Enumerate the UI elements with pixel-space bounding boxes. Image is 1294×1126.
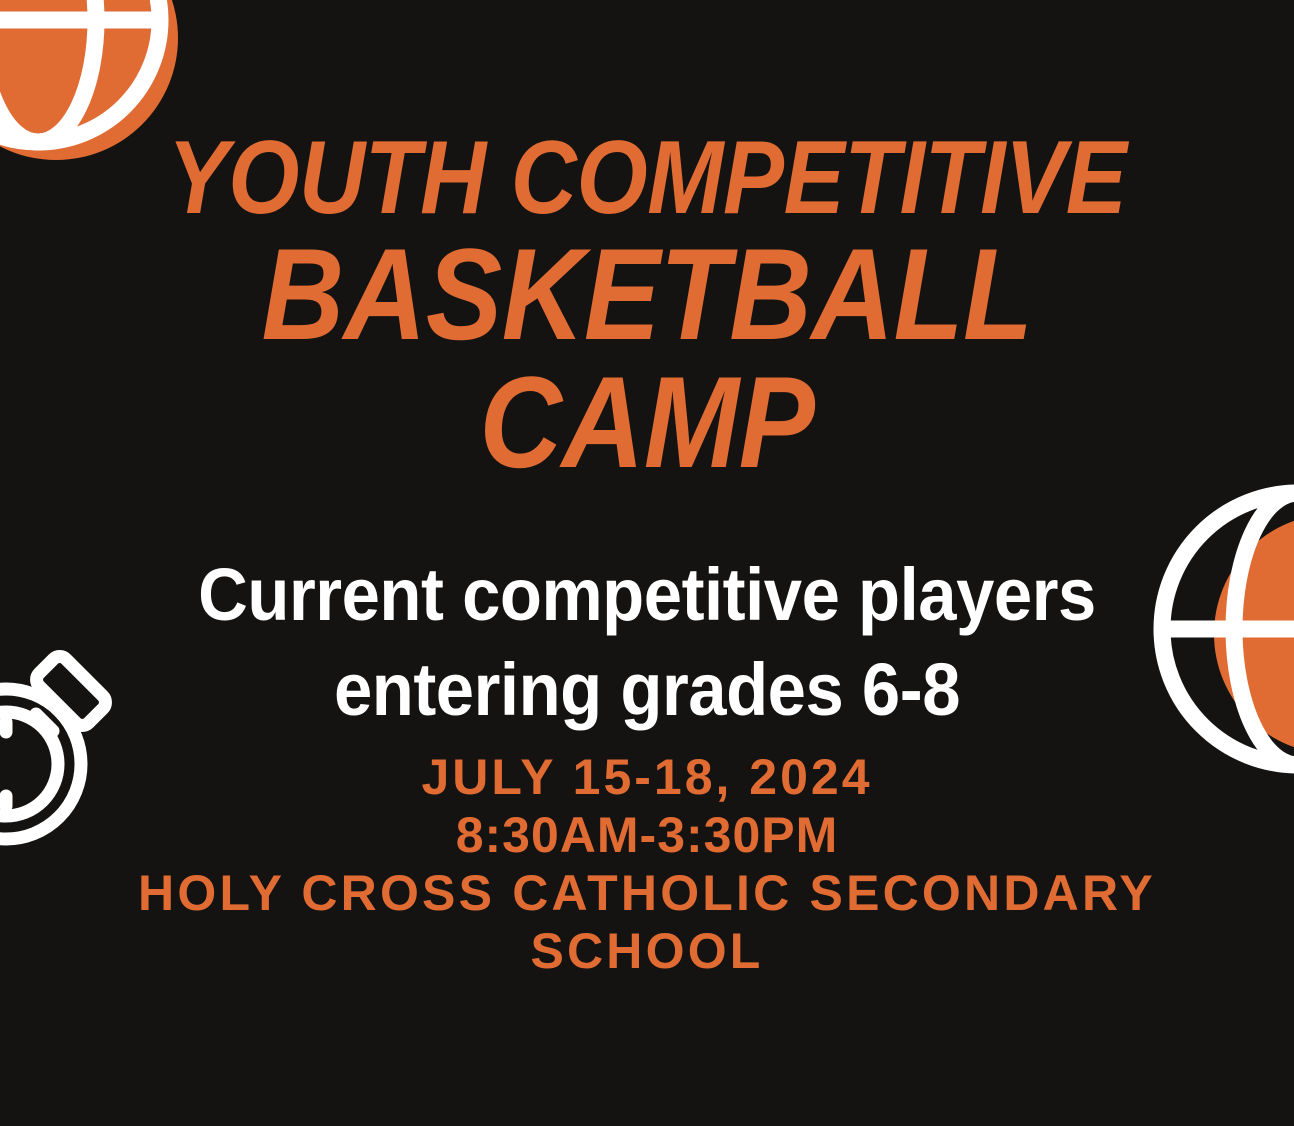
poster-title: YOUTH COMPETITIVE BASKETBALL CAMP: [0, 128, 1294, 485]
event-time: 8:30AM-3:30PM: [52, 806, 1242, 864]
title-line-1: YOUTH COMPETITIVE: [78, 128, 1217, 229]
poster-canvas: YOUTH COMPETITIVE BASKETBALL CAMP Curren…: [0, 0, 1294, 1126]
title-line-3: CAMP: [78, 359, 1217, 485]
subtitle-line-2: entering grades 6-8: [168, 643, 1126, 738]
event-date: JULY 15-18, 2024: [52, 748, 1242, 806]
poster-details: JULY 15-18, 2024 8:30AM-3:30PM HOLY CROS…: [52, 748, 1242, 980]
event-venue-line-1: HOLY CROSS CATHOLIC SECONDARY: [52, 864, 1242, 922]
title-line-2: BASKETBALL: [78, 231, 1217, 357]
subtitle-line-1: Current competitive players: [168, 548, 1126, 643]
poster-content: YOUTH COMPETITIVE BASKETBALL CAMP Curren…: [0, 0, 1294, 1126]
poster-subtitle: Current competitive players entering gra…: [132, 548, 1162, 737]
event-venue-line-2: SCHOOL: [52, 922, 1242, 980]
